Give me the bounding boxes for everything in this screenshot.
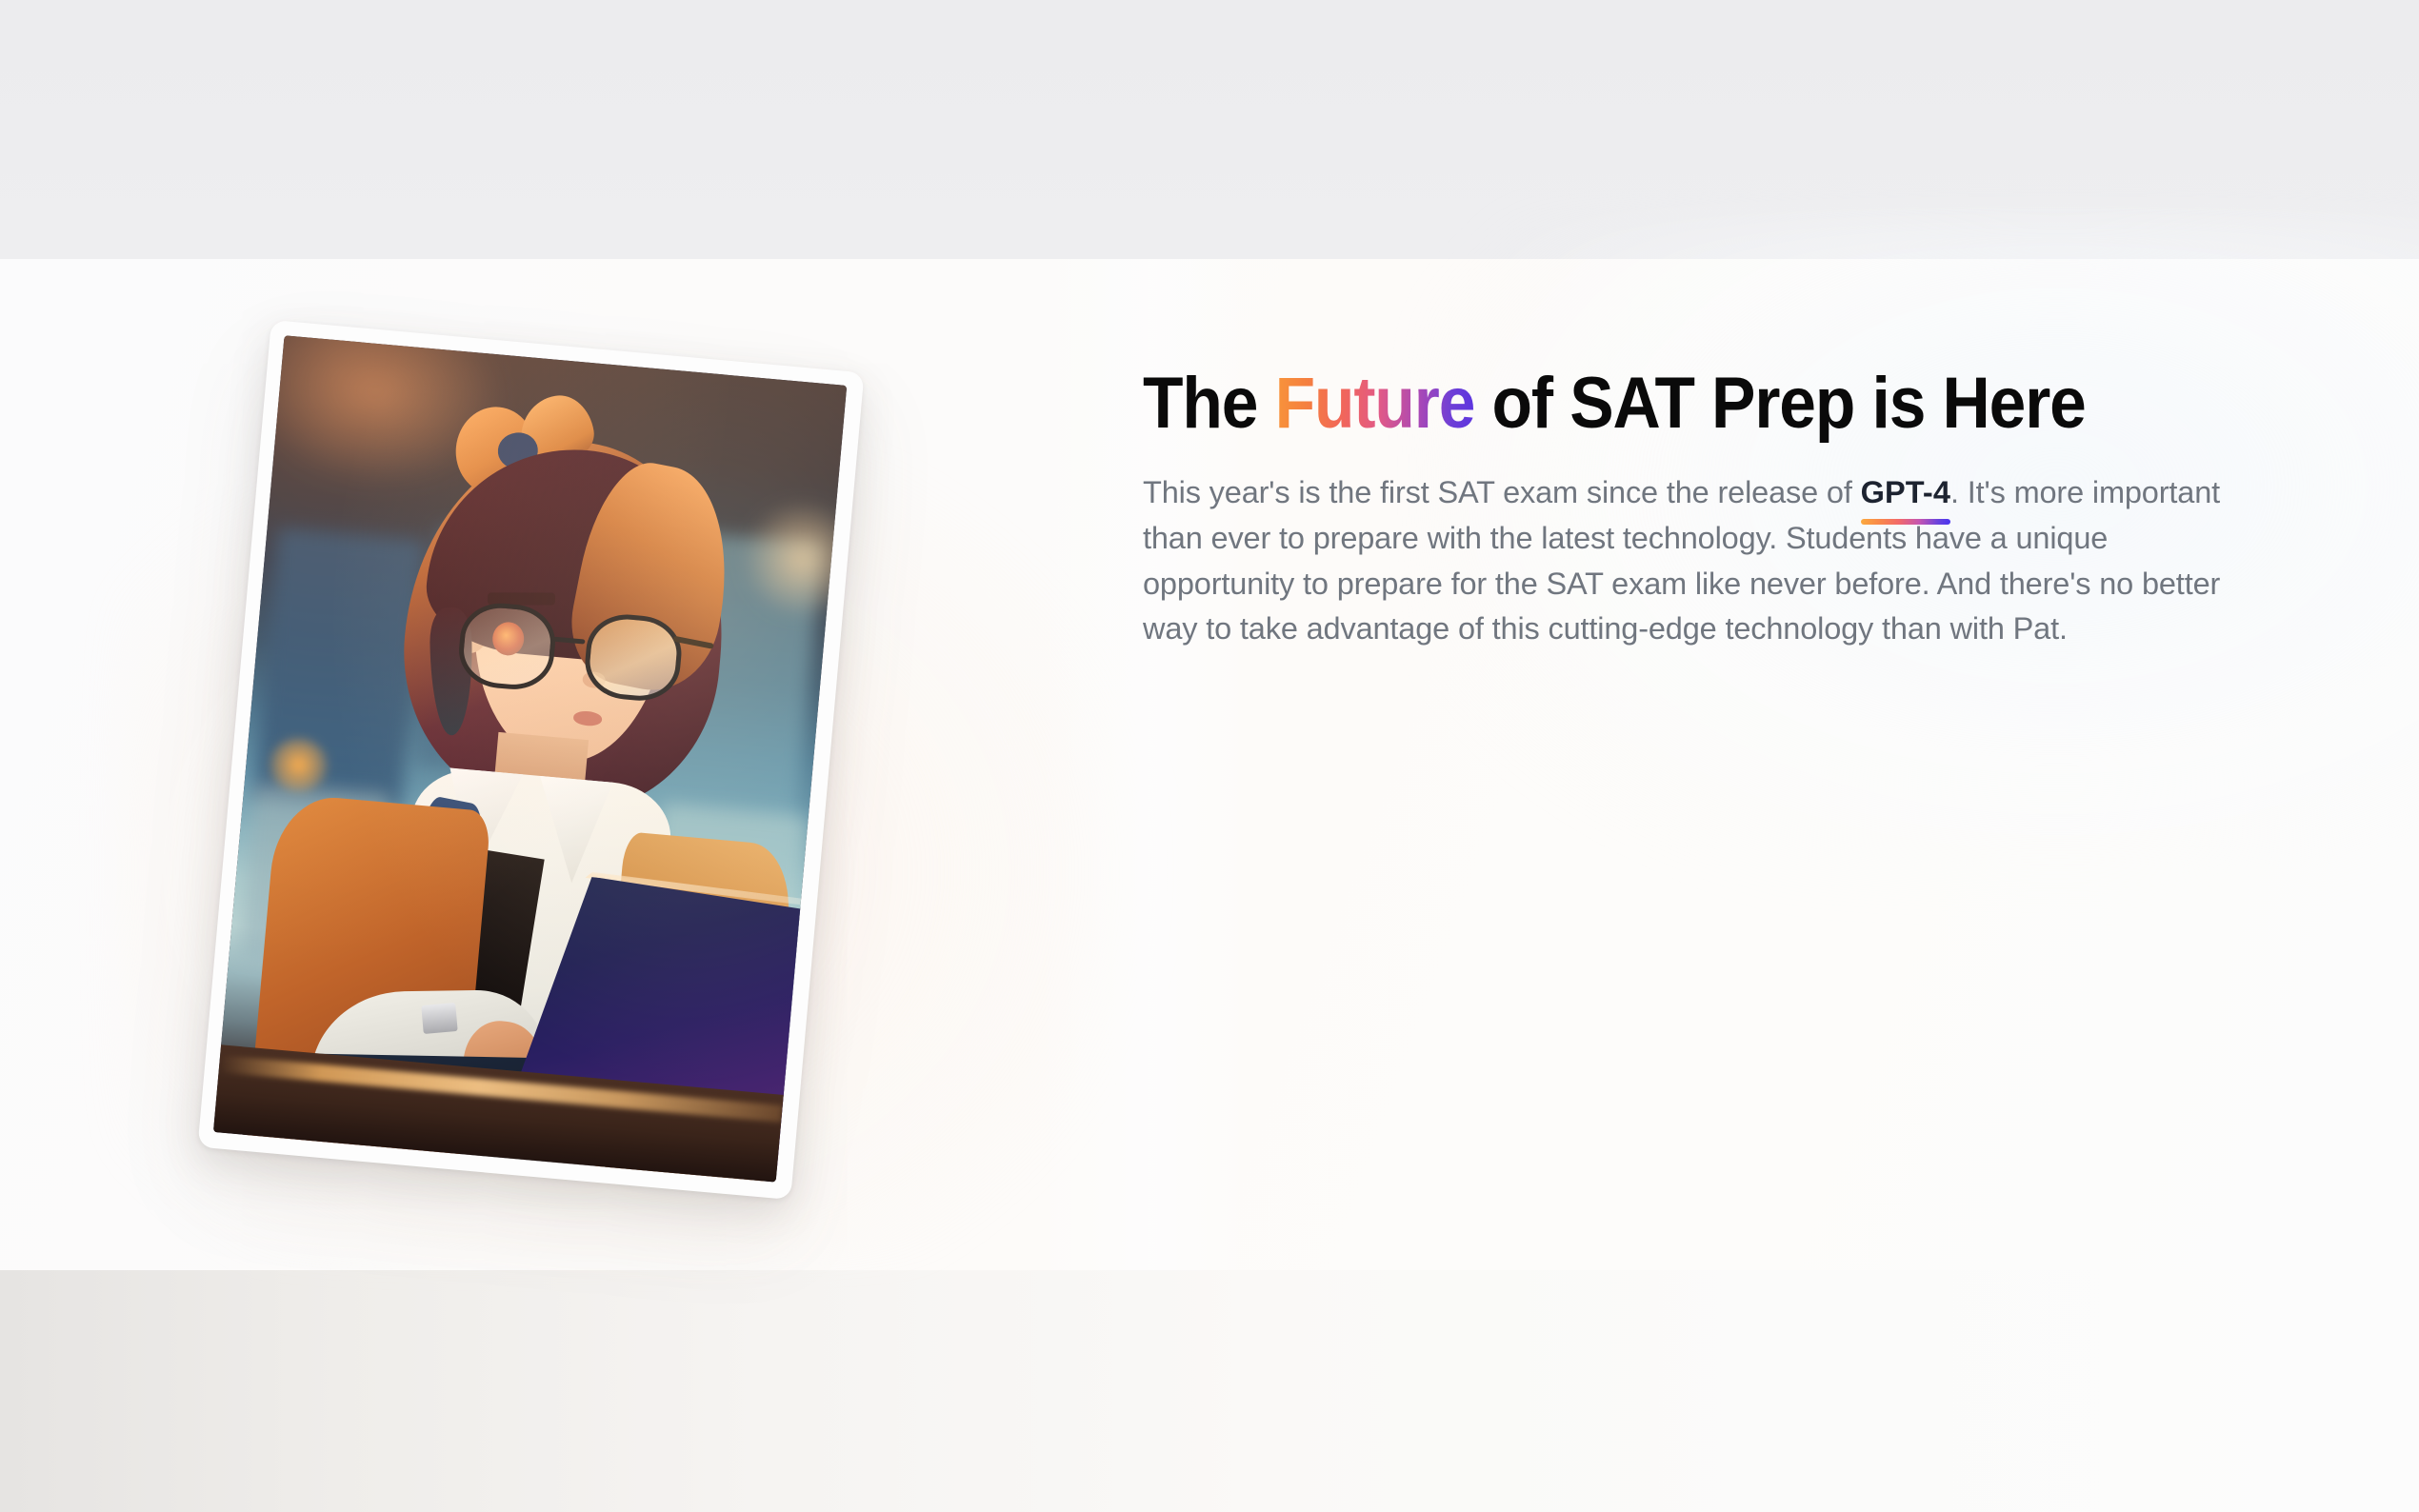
headline-prefix: The [1143, 363, 1275, 444]
hero-photo-image [213, 335, 847, 1182]
hero-copy-block: The Future of SAT Prep is Here This year… [1143, 368, 2286, 652]
glasses-bridge [553, 637, 586, 645]
hero-section: The Future of SAT Prep is Here This year… [0, 0, 2419, 1512]
gpt4-label: GPT-4 [1861, 475, 1950, 509]
description-part-one: This year's is the first SAT exam since … [1143, 475, 1861, 509]
headline-suffix: of SAT Prep is Here [1474, 363, 2085, 444]
gpt4-gradient-underline [1861, 519, 1950, 525]
headline-highlight-word: Future [1275, 363, 1475, 444]
hero-description: This year's is the first SAT exam since … [1143, 470, 2238, 652]
lens-left [456, 600, 558, 692]
page-title: The Future of SAT Prep is Here [1143, 368, 2189, 440]
background-band-bottom [0, 1270, 2419, 1512]
lens-right [582, 611, 684, 704]
wristwatch [421, 1003, 457, 1034]
gpt4-emphasis: GPT-4 [1861, 470, 1950, 516]
hero-photo-card[interactable] [197, 320, 864, 1200]
background-band-top [0, 0, 2419, 259]
